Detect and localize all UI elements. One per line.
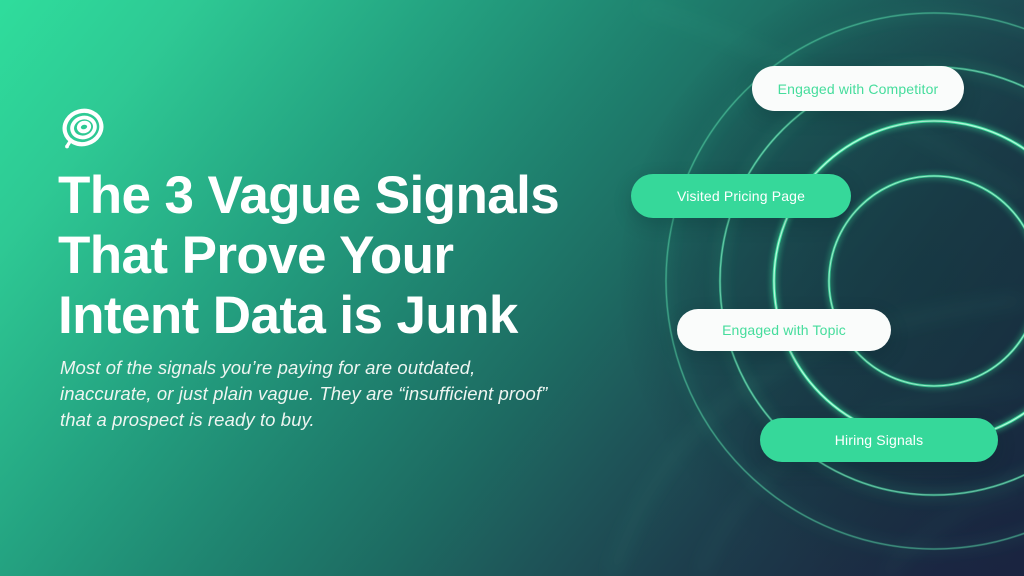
slide-content-column: The 3 Vague Signals That Prove Your Inte…	[58, 0, 678, 576]
signal-pill-visited-pricing-page[interactable]: Visited Pricing Page	[631, 174, 851, 218]
subtitle-text: Most of the signals you’re paying for ar…	[60, 355, 570, 433]
presentation-slide: The 3 Vague Signals That Prove Your Inte…	[0, 0, 1024, 576]
signal-pill-label: Visited Pricing Page	[677, 188, 805, 204]
signal-pill-label: Engaged with Competitor	[778, 81, 939, 97]
signal-pill-hiring-signals[interactable]: Hiring Signals	[760, 418, 998, 462]
headline-line-1: The 3 Vague Signals	[58, 166, 658, 226]
page-title: The 3 Vague Signals That Prove Your Inte…	[58, 166, 658, 346]
signal-pill-label: Hiring Signals	[835, 432, 923, 448]
signal-pill-engaged-with-topic[interactable]: Engaged with Topic	[677, 309, 891, 351]
headline-line-2: That Prove Your	[58, 226, 658, 286]
spiral-target-icon	[58, 104, 108, 154]
signal-pill-engaged-with-competitor[interactable]: Engaged with Competitor	[752, 66, 964, 111]
signal-pill-label: Engaged with Topic	[722, 322, 846, 338]
headline-line-3: Intent Data is Junk	[58, 286, 658, 346]
